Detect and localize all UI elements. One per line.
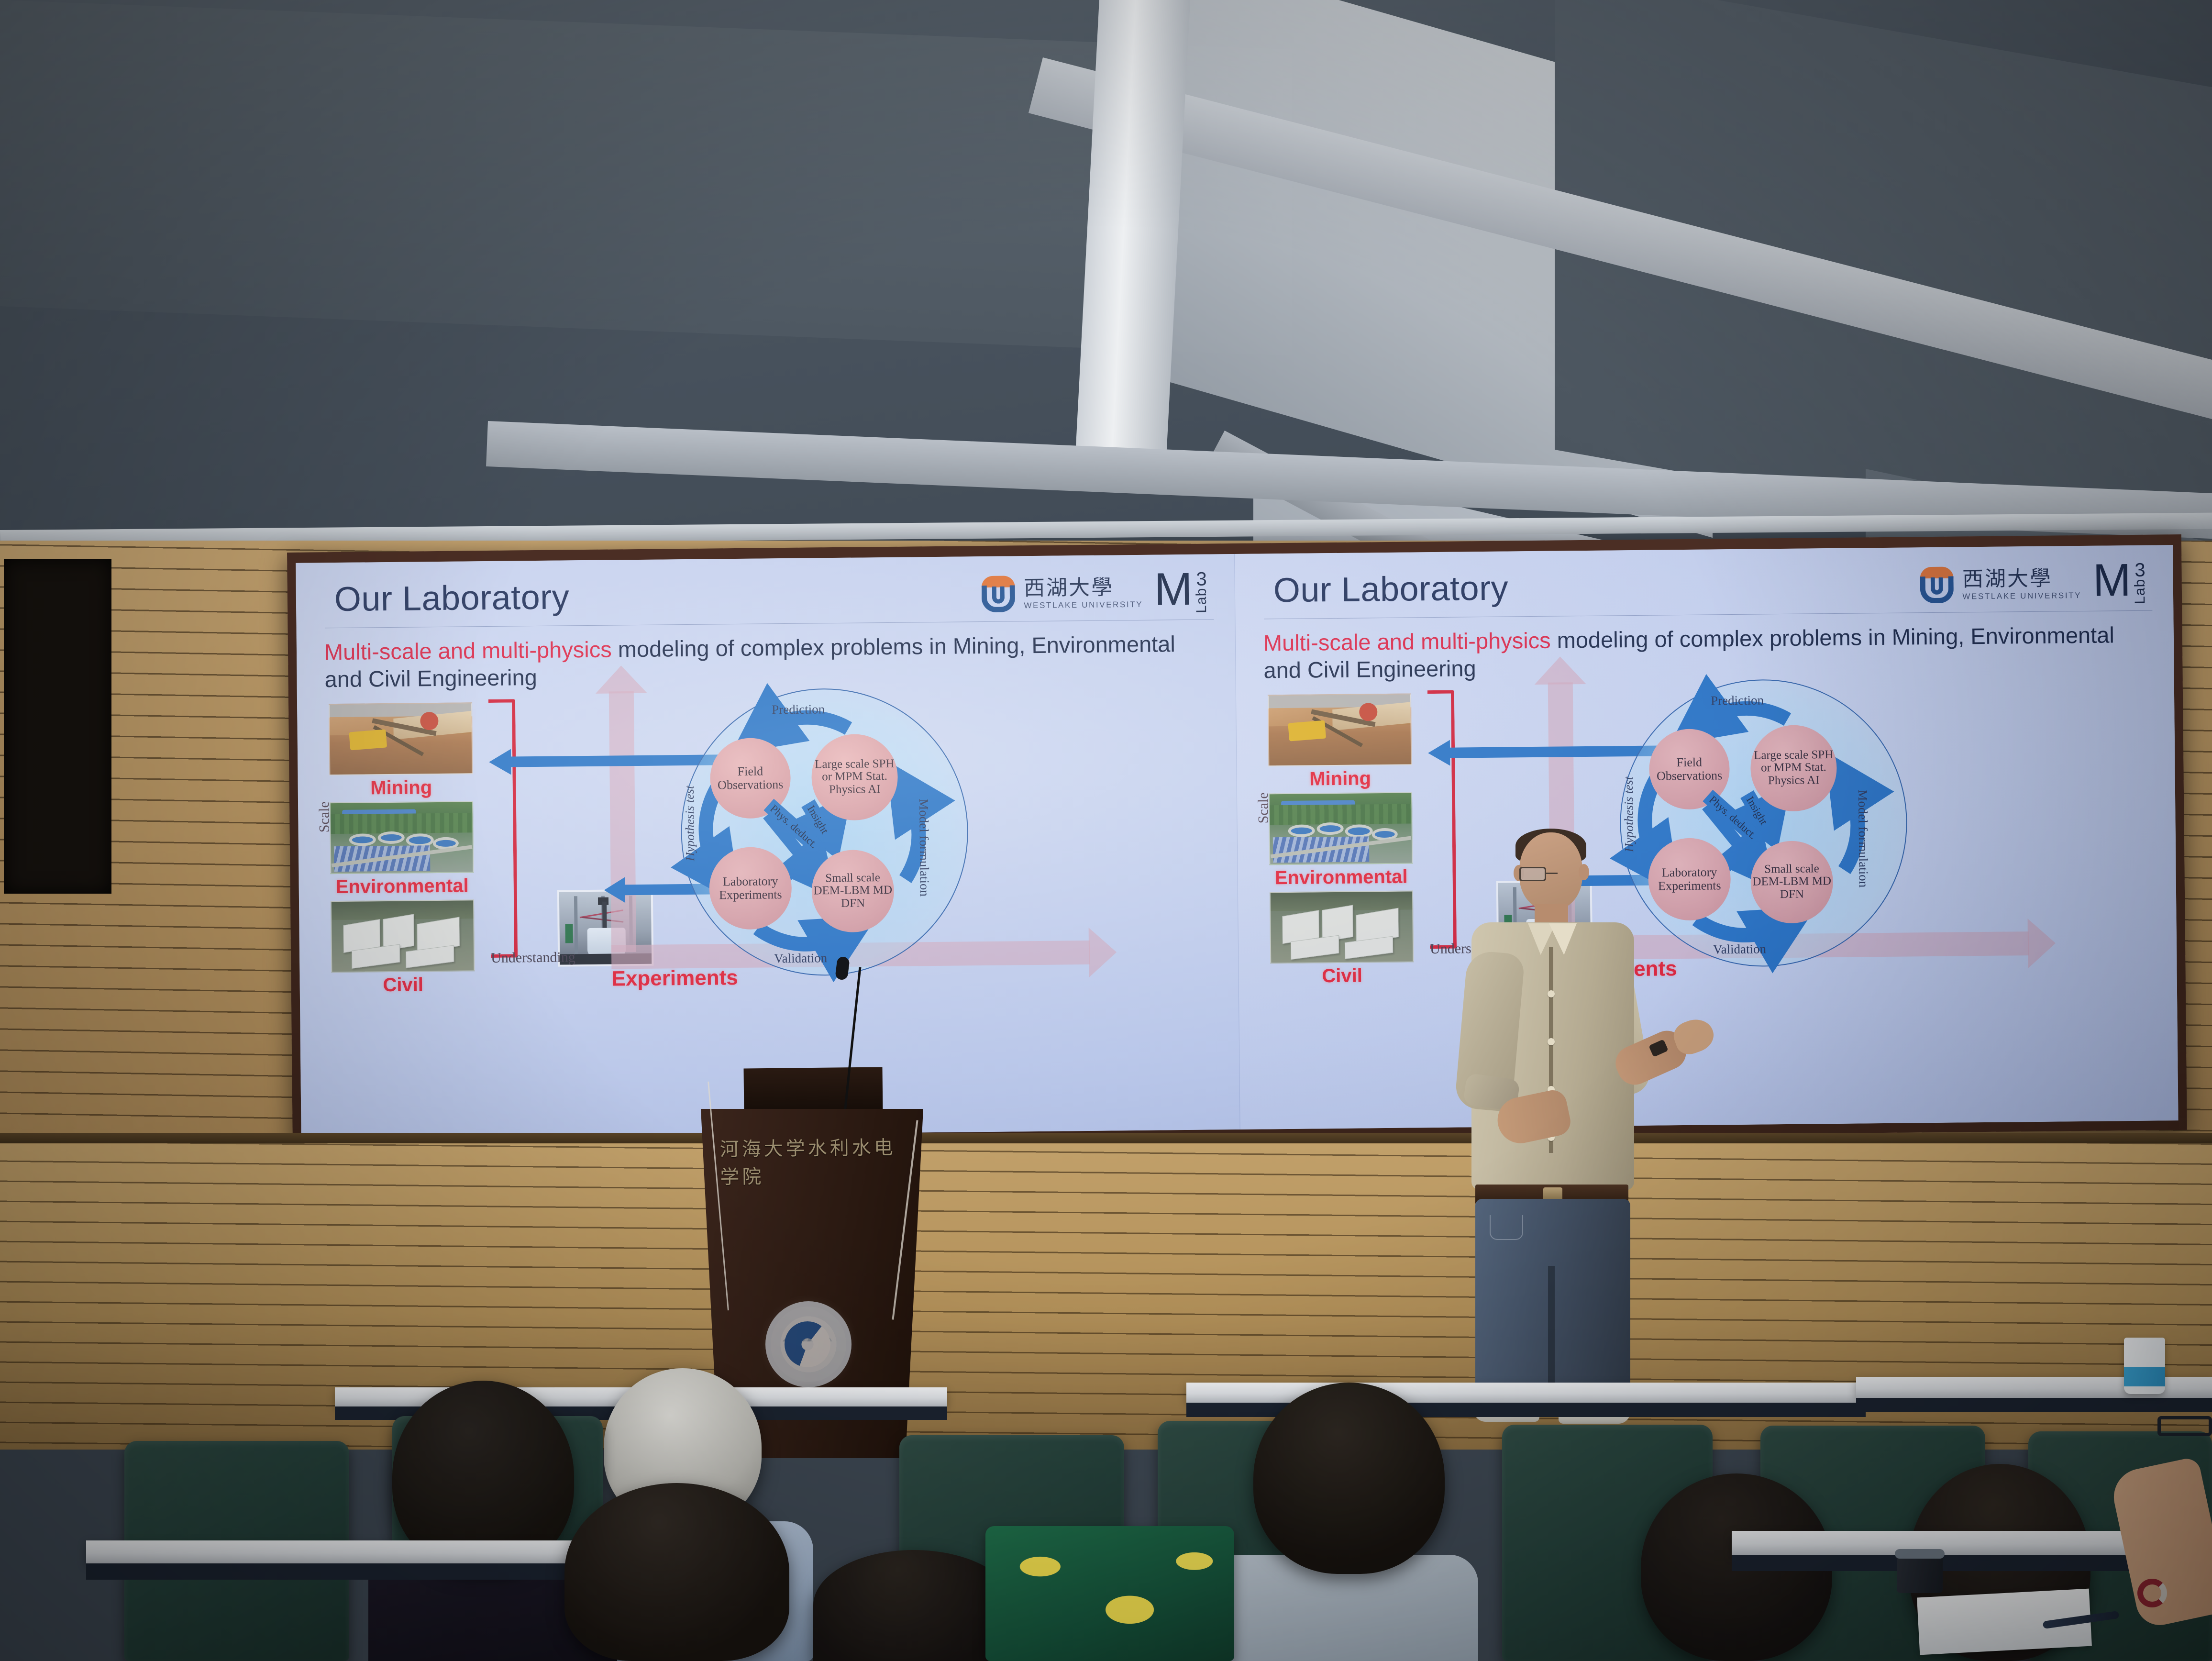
eyeglasses-icon xyxy=(2157,1416,2212,1436)
projection-screen[interactable]: Our Laboratory 西湖大學 WESTLAKE UNIVERSITY … xyxy=(296,545,2178,1139)
domain-label-civil: Civil xyxy=(331,974,475,996)
domain-label-environmental: Environmental xyxy=(1269,866,1413,888)
westlake-u-icon xyxy=(980,576,1018,612)
mining-photo xyxy=(329,702,473,775)
understanding-axis-label: Understanding xyxy=(491,949,575,966)
patterned-bag[interactable] xyxy=(985,1526,1234,1661)
m3-lab-mark: M 3 Lab xyxy=(2092,562,2148,605)
eyeglasses-icon xyxy=(1519,867,1584,883)
research-cycle-diagram: Field Observations Large scale SPH or MP… xyxy=(680,687,970,977)
domain-label-civil: Civil xyxy=(1270,965,1414,986)
shirt-button xyxy=(1548,1038,1555,1045)
lectern-sign-cn: 河海大学水利水电学院 xyxy=(719,1132,911,1189)
slide-title: Our Laboratory xyxy=(334,577,570,619)
desk-edge xyxy=(86,1563,612,1580)
cycle-node-laboratory-experiments: Laboratory Experiments xyxy=(709,847,792,930)
bracelet xyxy=(2137,1579,2167,1607)
scale-axis-label: Scale xyxy=(1255,792,1283,824)
lecture-hall-photo: Our Laboratory 西湖大學 WESTLAKE UNIVERSITY … xyxy=(0,0,2212,1661)
domain-label-mining: Mining xyxy=(330,777,473,798)
westlake-u-icon xyxy=(1918,566,1956,603)
subtitle-highlight: Multi-scale and multi-physics xyxy=(324,636,612,664)
arc-label-validation: Validation xyxy=(774,951,827,966)
audience-member-head xyxy=(813,1550,1014,1661)
arc-label-model-formulation: Model formulation xyxy=(1855,789,1871,887)
slide-body: Mining Environmental xyxy=(316,692,1224,1129)
arc-label-prediction: Prediction xyxy=(1711,693,1764,708)
subtitle-highlight: Multi-scale and multi-physics xyxy=(1263,628,1551,656)
slide-header: Our Laboratory 西湖大學 WESTLAKE UNIVERSITY … xyxy=(315,567,1218,630)
m3-letter: M xyxy=(2092,562,2131,599)
university-name-cn: 西湖大學 xyxy=(1962,568,2081,590)
university-name-cn: 西湖大學 xyxy=(1024,576,1143,598)
westlake-wordmark: 西湖大學 WESTLAKE UNIVERSITY xyxy=(1962,568,2081,600)
domain-label-environmental: Environmental xyxy=(331,875,474,897)
civil-photo xyxy=(1270,890,1414,963)
paper-cup[interactable] xyxy=(2124,1338,2165,1394)
westlake-m3lab-logo: 西湖大學 WESTLAKE UNIVERSITY M 3 Lab xyxy=(980,570,1210,615)
m3-lab-word: Lab xyxy=(1194,587,1210,613)
red-bracket xyxy=(488,699,518,958)
civil-photo xyxy=(331,899,475,973)
cycle-node-small-scale: Small scale DEM-LBM MD DFN xyxy=(1750,841,1834,924)
slide-left: Our Laboratory 西湖大學 WESTLAKE UNIVERSITY … xyxy=(296,554,1239,1139)
m3-exponent: 3 xyxy=(2135,562,2146,579)
arc-label-prediction: Prediction xyxy=(772,702,825,717)
shirt-button xyxy=(1548,990,1555,997)
m3-exponent: 3 xyxy=(1196,571,1207,588)
westlake-m3lab-logo: 西湖大學 WESTLAKE UNIVERSITY M 3 Lab xyxy=(1918,562,2149,607)
slide-subtitle: Multi-scale and multi-physics modeling o… xyxy=(1263,621,2131,684)
desk-row xyxy=(1186,1383,1866,1403)
experiments-label: Experiments xyxy=(611,966,738,991)
audience-member-head xyxy=(1253,1383,1445,1574)
arc-label-validation: Validation xyxy=(1713,941,1766,957)
projection-screen-frame: Our Laboratory 西湖大學 WESTLAKE UNIVERSITY … xyxy=(287,534,2187,1148)
university-name-en: WESTLAKE UNIVERSITY xyxy=(1962,591,2081,600)
arc-label-model-formulation: Model formulation xyxy=(916,798,932,897)
m3-lab-word: Lab xyxy=(2132,579,2149,604)
cycle-node-small-scale: Small scale DEM-LBM MD DFN xyxy=(811,850,895,933)
travel-mug[interactable] xyxy=(1897,1555,1943,1593)
environmental-photo xyxy=(1269,792,1413,865)
wall-dark-panel xyxy=(4,559,111,894)
slide-body: Mining Environmental xyxy=(1255,683,2162,1120)
cycle-node-large-scale: Large scale SPH or MPM Stat. Physics AI xyxy=(811,733,898,820)
cycle-node-large-scale: Large scale SPH or MPM Stat. Physics AI xyxy=(1750,725,1837,812)
m3-letter: M xyxy=(1154,571,1193,609)
scale-axis-arrow xyxy=(609,691,636,952)
arc-label-hypothesis-test: Hypothesis test xyxy=(683,785,698,861)
slide-title-rule xyxy=(325,619,1214,628)
domain-label-mining: Mining xyxy=(1268,768,1412,789)
audience-member-head-long-hair xyxy=(564,1483,789,1661)
environmental-photo xyxy=(330,801,474,874)
domain-photo-column: Mining Environmental xyxy=(329,702,475,997)
desk-row xyxy=(86,1540,612,1563)
desk-edge xyxy=(1856,1398,2212,1412)
slide-header: Our Laboratory 西湖大學 WESTLAKE UNIVERSITY … xyxy=(1254,558,2157,620)
westlake-wordmark: 西湖大學 WESTLAKE UNIVERSITY xyxy=(1024,576,1143,609)
mining-photo xyxy=(1268,693,1412,766)
university-name-en: WESTLAKE UNIVERSITY xyxy=(1024,600,1143,609)
domain-photo-column: Mining Environmental xyxy=(1268,693,1414,988)
slide-title: Our Laboratory xyxy=(1273,568,1508,610)
slide-title-rule xyxy=(1264,610,2152,620)
slide-subtitle: Multi-scale and multi-physics modeling o… xyxy=(324,630,1192,693)
ceiling xyxy=(0,0,2212,565)
m3-lab-mark: M 3 Lab xyxy=(1154,570,1210,613)
scale-axis-label: Scale xyxy=(316,801,343,833)
